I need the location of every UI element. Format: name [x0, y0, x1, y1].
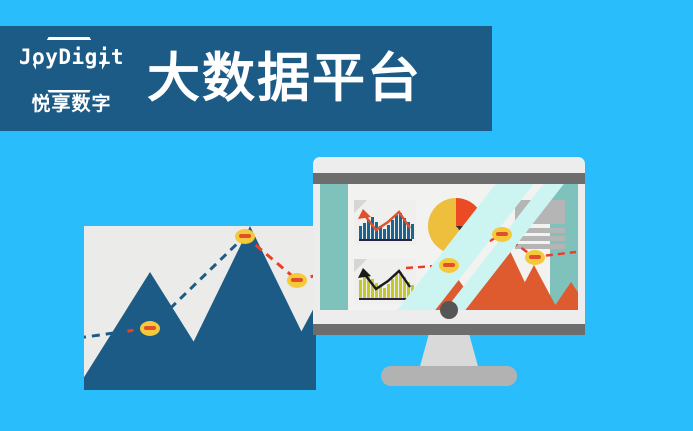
brand-logo[interactable]: JoyDigit 悦享数字	[14, 35, 129, 123]
mountain-chart-panel	[84, 226, 316, 390]
trend-lines-left	[84, 226, 316, 390]
logo-subtitle: 悦享数字	[14, 95, 129, 114]
monitor-bottom-bar	[313, 324, 585, 335]
illustration-canvas: JoyDigit 悦享数字 大数据平台	[0, 0, 693, 431]
orange-node-2	[492, 227, 512, 242]
monitor-base	[381, 366, 517, 386]
red-dashed-segment-3	[245, 236, 297, 280]
monitor-top-bar	[313, 173, 585, 184]
data-node-1	[140, 321, 160, 336]
dashed-segment-2	[150, 236, 245, 328]
data-node-2	[235, 229, 255, 244]
monitor-power-button[interactable]	[440, 301, 458, 319]
data-node-3	[287, 273, 307, 288]
orange-node-1	[439, 258, 459, 273]
header-banner: JoyDigit 悦享数字 大数据平台	[0, 26, 492, 131]
page-title: 大数据平台	[147, 52, 422, 105]
logo-wordmark: JoyDigit	[14, 47, 129, 68]
desktop-monitor	[313, 157, 585, 335]
orange-node-3	[525, 250, 545, 265]
monitor-stand	[419, 335, 479, 370]
monitor-screen	[320, 184, 578, 310]
